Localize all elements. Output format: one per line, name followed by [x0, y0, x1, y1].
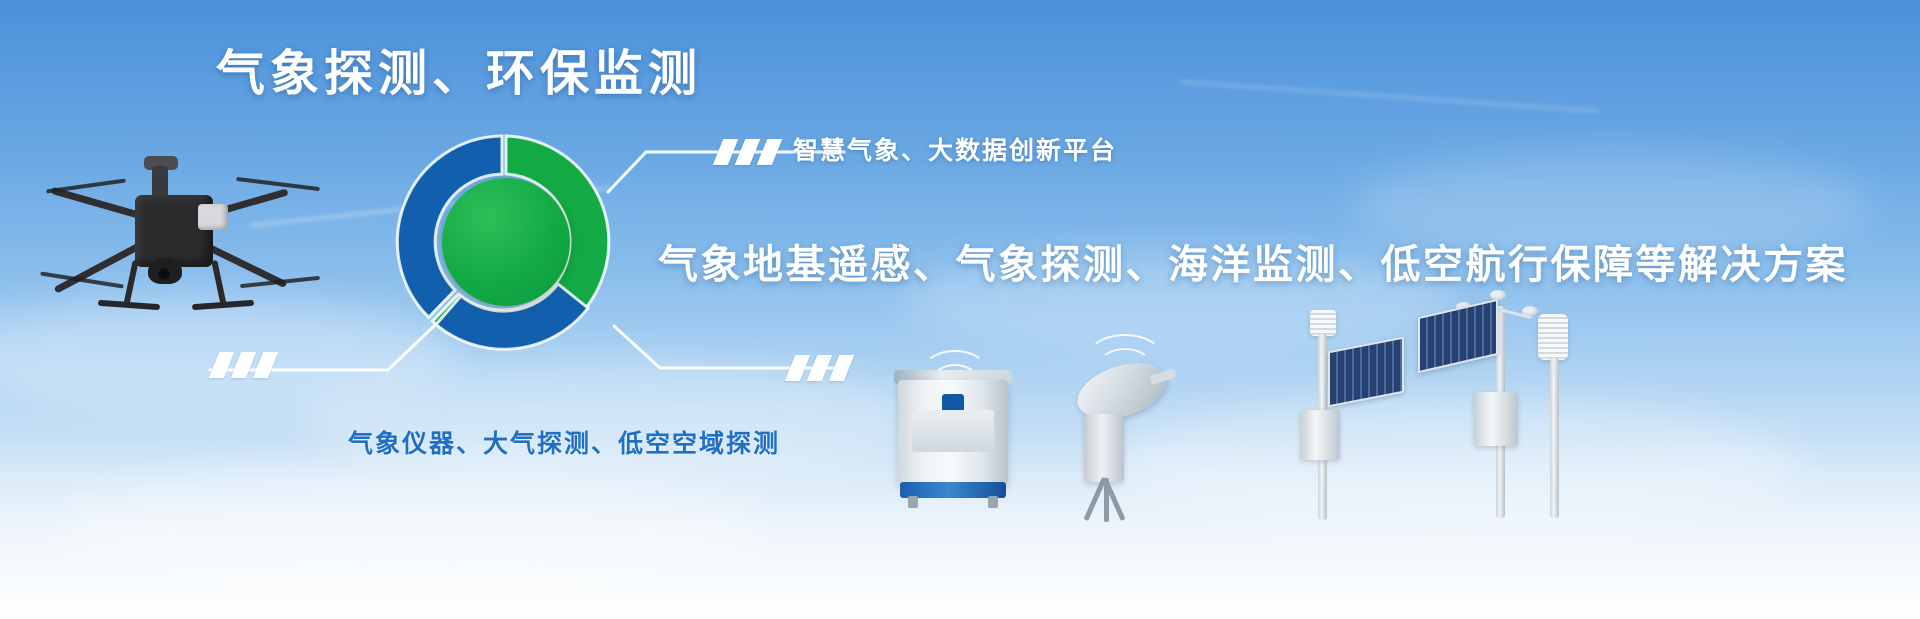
- drone-camera-lens: [156, 266, 172, 282]
- satellite-dish-tripod: [1072, 358, 1212, 528]
- drone-landing-foot: [98, 300, 160, 310]
- drone-sensor-module: [198, 204, 228, 230]
- slash-mark: [785, 355, 811, 381]
- slash-mark: [209, 352, 235, 378]
- cabinet-label-panel: [912, 410, 994, 452]
- cabinet-foot: [988, 496, 998, 508]
- anemometer-cup: [1522, 306, 1538, 316]
- radiation-shield: [1538, 314, 1568, 360]
- page-title: 气象探测、环保监测: [216, 46, 702, 102]
- drone-landing-leg: [211, 260, 226, 306]
- slash-accent-top: [718, 139, 777, 165]
- slash-mark: [713, 139, 739, 165]
- cloud-decoration: [60, 470, 760, 590]
- slash-mark: [807, 355, 833, 381]
- instrument-enclosure: [1300, 410, 1340, 460]
- tripod-leg: [1104, 478, 1109, 522]
- hero-banner: 气象探测、环保监测 智慧气象、大数据创新平台 气象地基遥感、气象探测、海洋监测、…: [0, 0, 1920, 619]
- slash-mark: [829, 355, 855, 381]
- dish-electronics-box: [1084, 414, 1124, 482]
- main-description: 气象地基遥感、气象探测、海洋监测、低空航行保障等解决方案: [658, 232, 1848, 290]
- slash-mark: [231, 352, 257, 378]
- ring-logo-core: [442, 178, 570, 306]
- mobile-lidar-cabinet: [898, 352, 1028, 522]
- solar-weather-station-right: [1418, 272, 1608, 532]
- solar-panel: [1328, 337, 1404, 408]
- drone-landing-leg: [123, 260, 138, 306]
- slash-mark: [253, 352, 279, 378]
- slash-mark: [735, 139, 761, 165]
- radiation-shield: [1310, 310, 1336, 336]
- drone-arm: [51, 187, 141, 219]
- station-mast: [1550, 358, 1559, 518]
- slash-accent-bottom-left: [214, 352, 273, 378]
- slash-mark: [757, 139, 783, 165]
- drone-propeller: [46, 178, 126, 193]
- instrument-enclosure: [1474, 392, 1518, 446]
- cabinet-foot: [908, 496, 918, 508]
- drone-landing-foot: [192, 300, 254, 310]
- solar-weather-station-left: [1282, 300, 1412, 530]
- drone: [40, 150, 330, 350]
- callout-label-bottom: 气象仪器、大气探测、低空空域探测: [348, 424, 780, 460]
- anemometer-cup: [1490, 290, 1506, 300]
- slash-accent-bottom-right: [790, 355, 849, 381]
- solar-panel: [1418, 299, 1498, 373]
- callout-label-top: 智慧气象、大数据创新平台: [793, 131, 1117, 167]
- contrail-streak: [1180, 80, 1599, 112]
- ring-logo: [392, 128, 620, 356]
- drone-propeller: [236, 177, 320, 191]
